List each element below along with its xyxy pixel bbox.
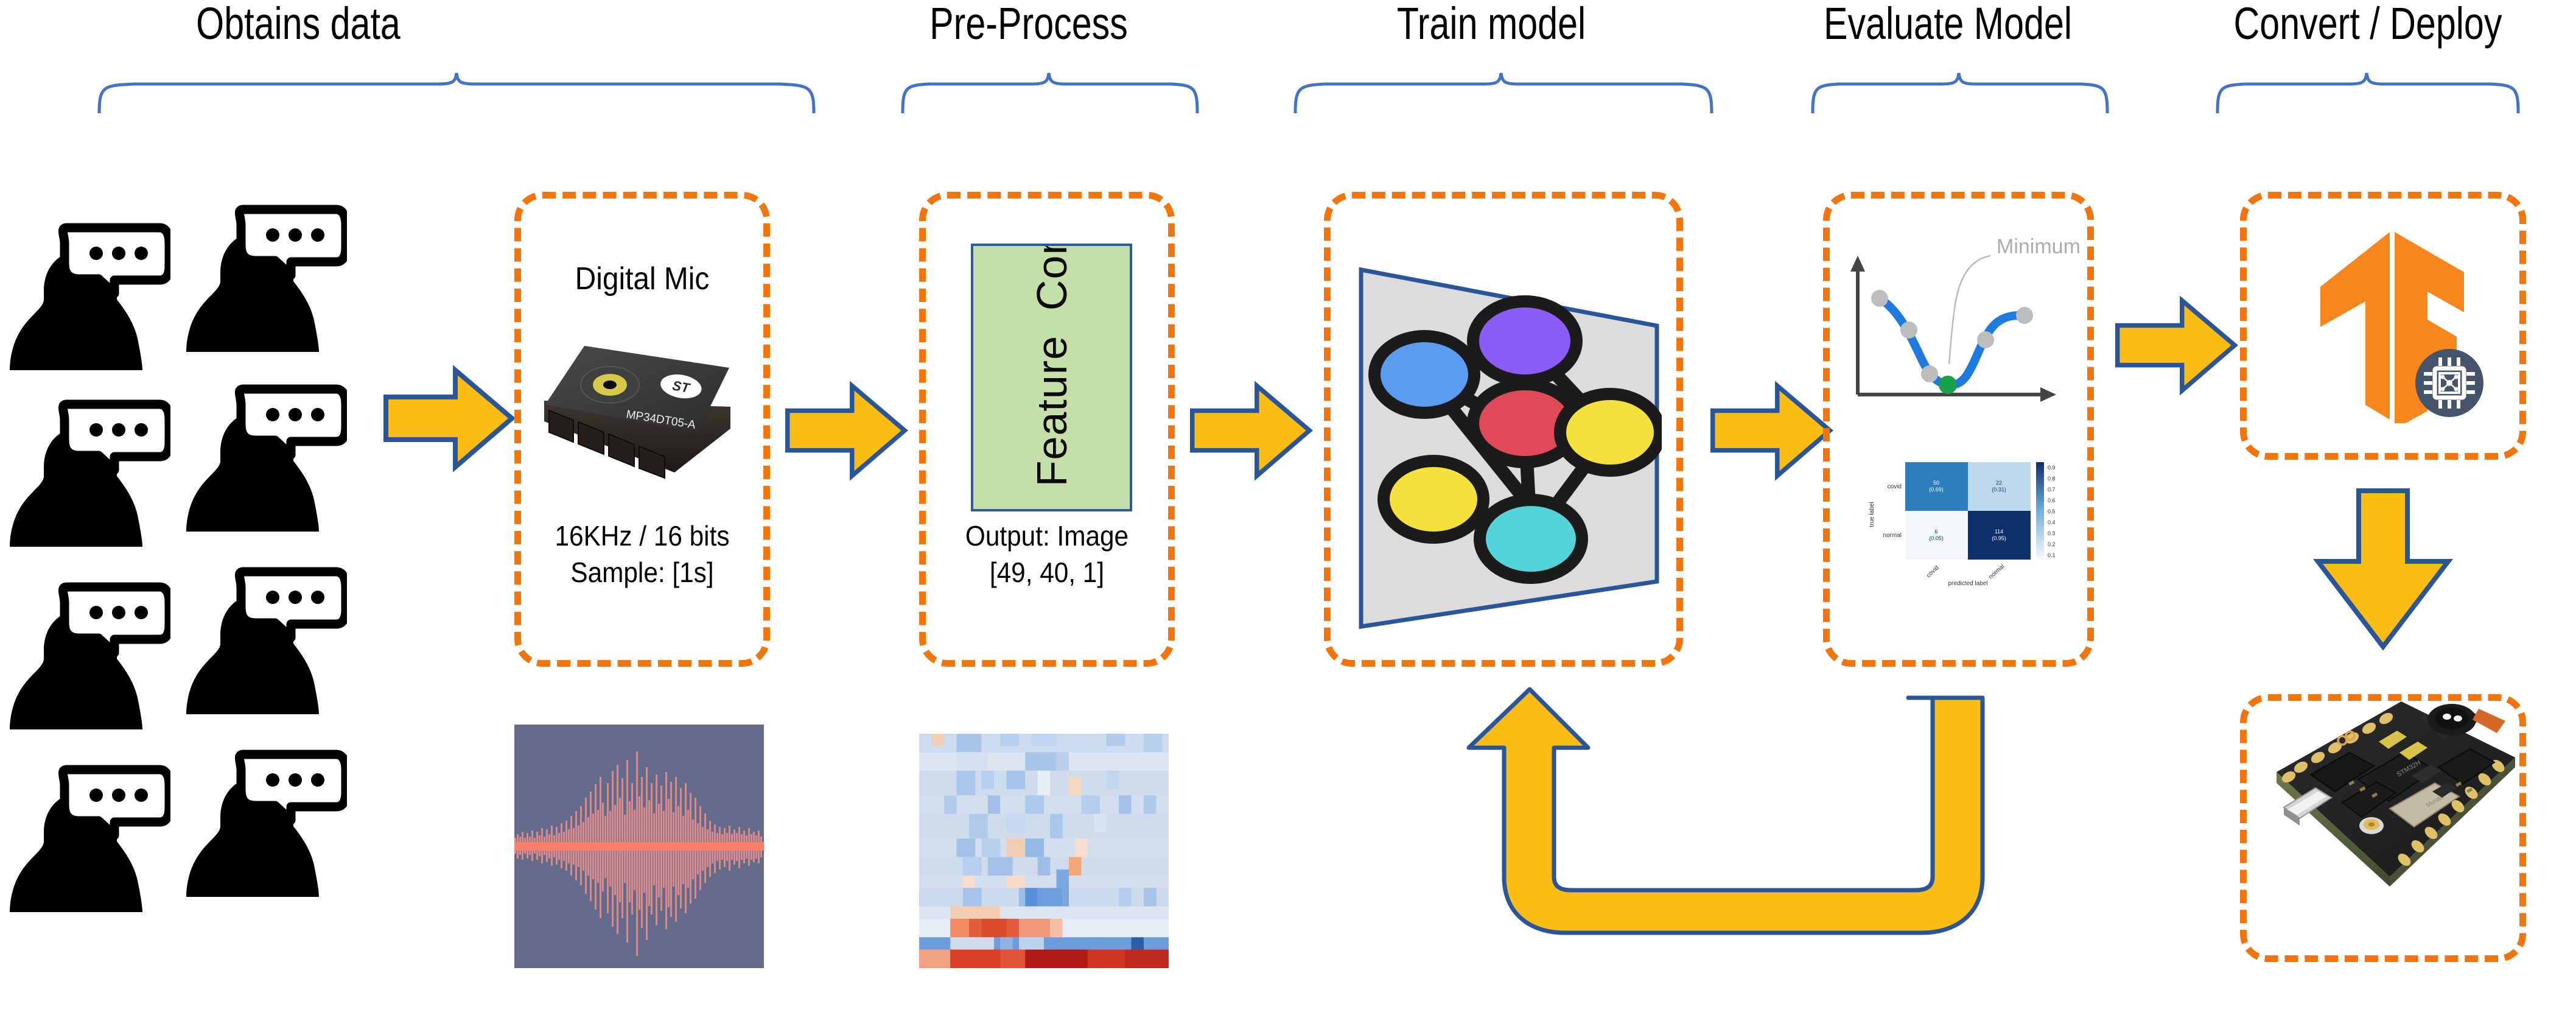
speaker-icon-4 bbox=[183, 381, 347, 533]
cm-colorbar-tick-5: 0.4 bbox=[2048, 519, 2056, 525]
speaker-icon-3 bbox=[6, 396, 170, 548]
cm-colorbar-tick-0: 0.9 bbox=[2048, 465, 2056, 471]
speaker-icon-6 bbox=[183, 563, 347, 715]
cm-colorbar-tick-7: 0.2 bbox=[2048, 541, 2056, 547]
mfcc-converter-label: MFCC Feature Converter bbox=[1027, 244, 1076, 511]
preprocess-output-line-1: Output: Image bbox=[935, 521, 1159, 552]
stage-title-obtains-data: Obtains data bbox=[113, 1, 483, 46]
mfcc-spectrogram-image bbox=[919, 734, 1169, 968]
node-yellow-right bbox=[1560, 394, 1660, 471]
neural-network-diagram bbox=[1357, 222, 1662, 636]
arrow-train-to-evaluate bbox=[1710, 378, 1832, 484]
preprocess-output-line-2: [49, 40, 1] bbox=[935, 557, 1159, 588]
arrow-convert-to-board bbox=[2313, 487, 2453, 651]
brace-train-model bbox=[1293, 72, 1713, 114]
cm-col-label-normal: normal bbox=[1987, 563, 2006, 581]
cm-colorbar-tick-2: 0.7 bbox=[2048, 486, 2056, 493]
arrow-feedback-loop-to-train bbox=[1458, 694, 1993, 944]
speaker-icon-2 bbox=[183, 201, 347, 353]
mems-microphone-photo: ST MP34DT05-A bbox=[536, 329, 749, 493]
node-purple bbox=[1473, 301, 1577, 381]
arrow-speakers-to-mic bbox=[383, 365, 514, 472]
cm-cell-1-1-count: 114 bbox=[1995, 529, 2003, 535]
brace-pre-process bbox=[901, 72, 1199, 114]
cm-colorbar-tick-6: 0.3 bbox=[2048, 530, 2056, 536]
cm-y-axis-label: true label bbox=[1869, 502, 1875, 527]
microcontroller-board-photo: STM32H Murata bbox=[2252, 694, 2526, 956]
stage-title-evaluate-model: Evaluate Model bbox=[1792, 1, 2104, 46]
arrow-preprocess-to-train bbox=[1190, 378, 1312, 484]
brace-convert-deploy bbox=[2216, 72, 2520, 114]
speaker-icon-1 bbox=[6, 219, 170, 371]
cm-cell-0-0-fraction: (0.69) bbox=[1929, 486, 1944, 493]
mic-title: Digital Mic bbox=[541, 262, 743, 297]
cm-cell-0-1-fraction: (0.31) bbox=[1992, 486, 2006, 493]
brace-evaluate-model bbox=[1811, 72, 2109, 114]
cm-cell-1-1-fraction: (0.95) bbox=[1992, 535, 2006, 541]
mic-spec-line-1: 16KHz / 16 bits bbox=[530, 521, 754, 552]
stage-title-pre-process: Pre-Process bbox=[878, 1, 1180, 46]
cm-cell-1-0-fraction: (0.05) bbox=[1929, 535, 1944, 541]
arrow-mic-to-preprocess bbox=[785, 378, 907, 484]
loss-minimum-label: Minimum bbox=[1997, 235, 2081, 258]
speaker-icon-5 bbox=[6, 578, 170, 731]
arrow-evaluate-to-deploy bbox=[2115, 292, 2237, 399]
node-yellow-left bbox=[1384, 461, 1483, 538]
brace-obtains-data bbox=[97, 72, 816, 114]
mfcc-feature-converter-block: MFCC Feature Converter bbox=[971, 244, 1132, 511]
mic-spec-line-2: Sample: [1s] bbox=[530, 557, 754, 588]
confusion-matrix-heatmap: 50 (0.69) 22 (0.31) 6 (0.05) 114 (0.95) … bbox=[1850, 454, 2076, 648]
cm-colorbar-tick-1: 0.8 bbox=[2048, 476, 2056, 482]
cm-row-label-covid: covid bbox=[1888, 483, 1902, 490]
cm-cell-0-1-count: 22 bbox=[1996, 480, 2002, 486]
tensorflow-lite-micro-logo bbox=[2307, 228, 2483, 423]
cm-x-axis-label: predicted label bbox=[1948, 580, 1987, 587]
cm-cell-0-0-count: 50 bbox=[1933, 480, 1939, 486]
speaker-icon-7 bbox=[6, 761, 170, 913]
cm-colorbar-tick-4: 0.5 bbox=[2048, 508, 2056, 515]
cm-colorbar-tick-3: 0.6 bbox=[2048, 497, 2056, 504]
cm-cell-1-0-count: 6 bbox=[1934, 529, 1937, 535]
cm-col-label-covid: covid bbox=[1925, 564, 1941, 579]
stage-title-train-model: Train model bbox=[1340, 1, 1642, 46]
cm-row-label-normal: normal bbox=[1883, 532, 1902, 539]
node-cyan bbox=[1480, 500, 1582, 578]
stage-title-convert-deploy: Convert / Deploy bbox=[2197, 1, 2538, 46]
gradient-descent-loss-curve: Minimum bbox=[1844, 219, 2063, 408]
loss-minimum-marker bbox=[1939, 376, 1957, 394]
audio-waveform-image bbox=[514, 725, 764, 968]
speaker-icon-8 bbox=[183, 746, 347, 898]
node-blue bbox=[1374, 336, 1474, 413]
cm-colorbar-tick-8: 0.1 bbox=[2048, 552, 2056, 558]
